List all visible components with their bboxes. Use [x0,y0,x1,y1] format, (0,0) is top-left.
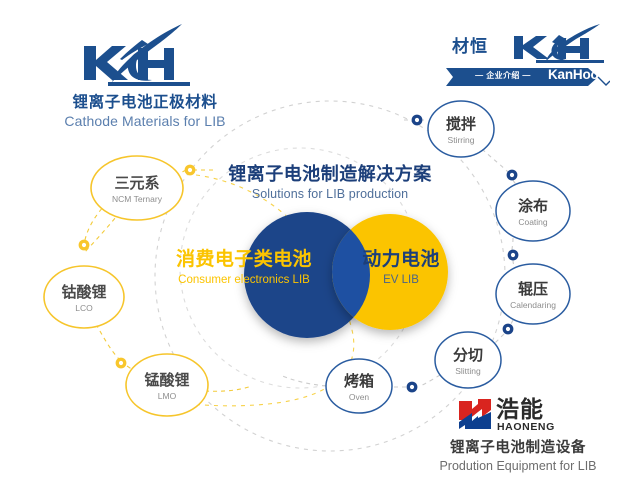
process-link-calendaring-slitting [509,320,513,327]
kanhoo-kh-logo [512,24,608,64]
node-label-stirring[interactable]: 搅拌 Stirring [411,116,511,146]
node-label-oven[interactable]: 烤箱 Oven [309,373,409,403]
dot-blue-4 [503,324,514,335]
node-label-lmo[interactable]: 锰酸锂 LMO [117,372,217,402]
node-label-ncm[interactable]: 三元系 NCM Ternary [87,175,187,205]
node-label-oven-cn: 烤箱 [309,373,409,391]
center-title: 锂离子电池制造解决方案 Solutions for LIB production [200,162,460,203]
venn-label-ev: 动力电池 EV LIB [336,248,466,288]
node-label-stirring-en: Stirring [411,134,511,146]
process-link-dot-calendaring [513,260,516,268]
venn-label-ev-cn: 动力电池 [336,248,466,272]
node-label-calendaring[interactable]: 辊压 Calendaring [483,281,583,311]
kanhoo-cn-mark: 材恒 [452,32,488,57]
node-label-oven-en: Oven [309,391,409,403]
kh-monogram-logo [78,22,198,90]
node-label-coating-en: Coating [483,216,583,228]
kanhoo-ribbon-en: KanHoo [548,67,599,83]
node-label-lmo-cn: 锰酸锂 [117,372,217,390]
dot-blue-2 [507,170,518,181]
kanhoo-banner: 材恒 — 企业介绍 — KanHoo [452,24,610,88]
process-link-stirring-coating [482,149,508,172]
node-label-lco-en: LCO [34,302,134,314]
dot-yellow-1-hole [188,168,192,172]
cathode-materials-caption: 锂离子电池正极材料 Cathode Materials for LIB [30,93,260,130]
dot-blue-3 [508,250,519,261]
node-label-lco-cn: 钴酸锂 [34,284,134,302]
center-title-cn: 锂离子电池制造解决方案 [200,162,460,186]
cathode-link-ncm-lco [85,212,120,252]
node-label-stirring-cn: 搅拌 [411,116,511,134]
process-link-dot-coating [513,180,524,185]
dot-yellow-3-hole [119,361,123,365]
haoneng-brand-en: HAONENG [497,421,555,433]
node-label-calendaring-en: Calendaring [483,299,583,311]
dot-blue-5-hole [410,385,414,389]
cathode-caption-en: Cathode Materials for LIB [30,112,260,130]
haoneng-logo-icon [458,398,492,432]
node-label-ncm-en: NCM Ternary [87,193,187,205]
process-link-dot-slitting [490,334,504,348]
cathode-link-lco-lmo [96,324,120,360]
node-label-calendaring-cn: 辊压 [483,281,583,299]
venn-label-consumer: 消费电子类电池 Consumer electronics LIB [146,248,342,288]
node-label-lmo-en: LMO [117,390,217,402]
haoneng-caption-cn: 锂离子电池制造设备 [420,438,616,458]
kanhoo-ribbon-cn: — 企业介绍 — [460,69,546,83]
haoneng-brand-cn: 浩能 [496,396,544,422]
node-label-coating[interactable]: 涂布 Coating [483,198,583,228]
node-label-ncm-cn: 三元系 [87,175,187,193]
dot-yellow-3 [116,358,127,369]
dot-blue-2-hole [510,173,514,177]
haoneng-caption-en: Prodution Equipment for LIB [420,458,616,475]
node-label-coating-cn: 涂布 [483,198,583,216]
dot-blue-3-hole [511,253,515,257]
dot-yellow-2 [79,240,90,251]
center-title-en: Solutions for LIB production [200,186,460,203]
node-label-slitting[interactable]: 分切 Slitting [418,347,518,377]
slide-canvas: 锂离子电池正极材料 Cathode Materials for LIB 材恒 [0,0,619,489]
process-link-coating-calendaring [512,238,513,250]
node-label-slitting-en: Slitting [418,365,518,377]
node-label-slitting-cn: 分切 [418,347,518,365]
dot-yellow-1 [185,165,196,176]
haoneng-caption: 锂离子电池制造设备 Prodution Equipment for LIB [420,438,616,475]
venn-label-ev-en: EV LIB [336,272,466,288]
venn-label-consumer-en: Consumer electronics LIB [146,272,342,288]
dot-yellow-2-hole [82,243,86,247]
node-label-lco[interactable]: 钴酸锂 LCO [34,284,134,314]
cathode-caption-cn: 锂离子电池正极材料 [30,93,260,112]
venn-label-consumer-cn: 消费电子类电池 [146,248,342,272]
dot-blue-4-hole [506,327,510,331]
